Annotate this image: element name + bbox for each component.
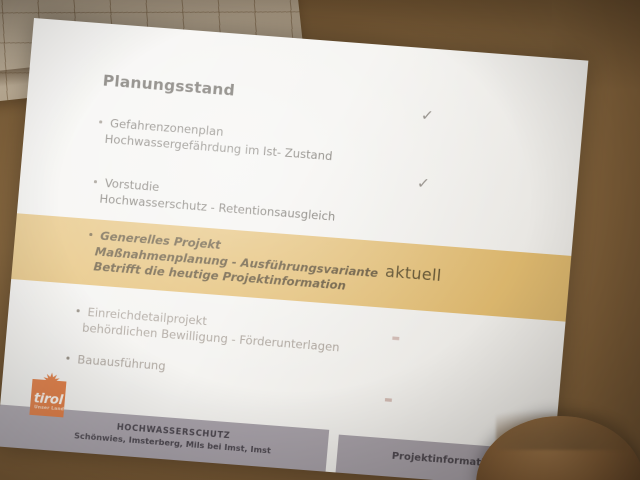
status-check-row-2: ✓: [416, 176, 430, 192]
status-dash-row-4: ▬: [391, 334, 399, 344]
tirol-eagle-icon: [37, 369, 65, 397]
bullet-icon: [94, 180, 97, 183]
slide-row-1-text: Gefahrenzonenplan Hochwassergefährdung i…: [108, 116, 334, 164]
bullet-icon: [77, 309, 80, 312]
slide-row-2-text: Vorstudie Hochwasserschutz - Retentionsa…: [103, 176, 338, 225]
slide-row-5-line-1: Bauausführung: [77, 352, 167, 374]
bullet-icon: [66, 356, 69, 359]
status-dash-row-5: ▬: [384, 396, 392, 406]
bullet-icon: [99, 120, 102, 123]
tirol-logo-subline: Unser Land: [34, 405, 64, 412]
photo-scene: Planungsstand Gefahrenzonenplan Hochwass…: [0, 0, 640, 480]
slide-row-4-text: Einreichdetailprojekt behördlichen Bewil…: [85, 305, 341, 355]
bullet-icon: [89, 233, 92, 236]
status-check-row-1: ✓: [420, 108, 434, 124]
audience-person-hair: [496, 410, 626, 450]
slide-title: Planungsstand: [102, 71, 236, 99]
slide-row-5-text: Bauausführung: [77, 352, 167, 374]
status-label-aktuell: aktuell: [385, 264, 443, 284]
